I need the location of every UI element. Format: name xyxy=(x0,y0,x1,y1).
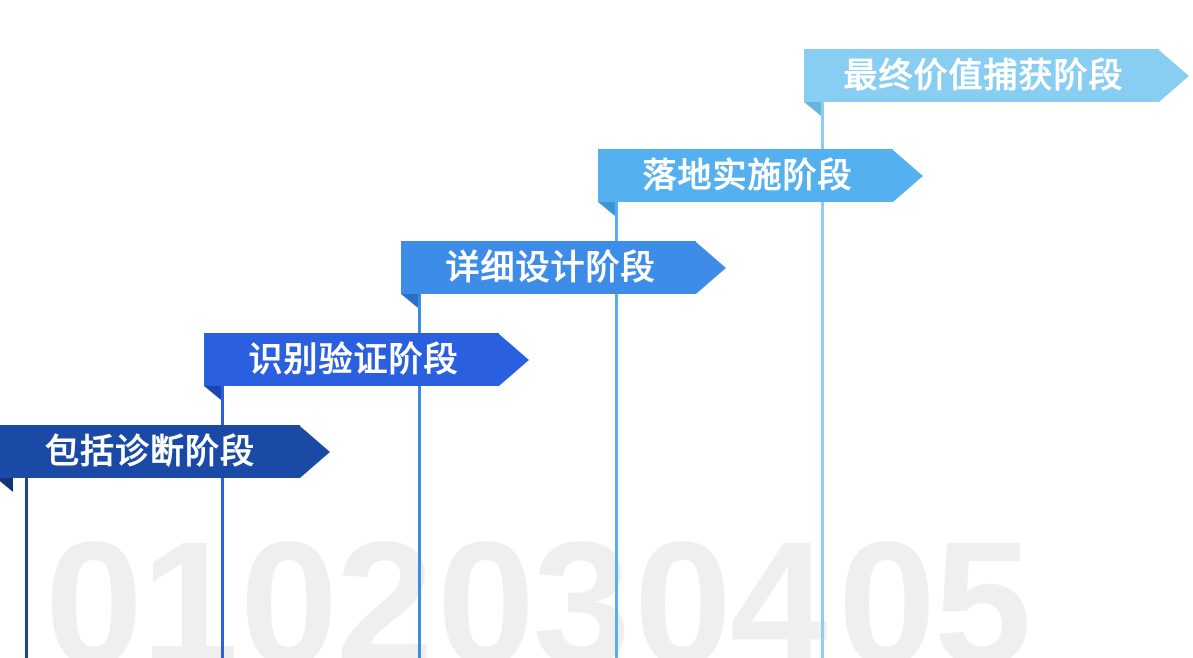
step-banner-body-03: 详细设计阶段 xyxy=(401,241,696,294)
step-banner-label-02: 识别验证阶段 xyxy=(249,343,459,377)
step-banner-body-01: 包括诊断阶段 xyxy=(0,425,300,478)
step-banner-label-05: 最终价值捕获阶段 xyxy=(844,59,1124,93)
step-banner-label-04: 落地实施阶段 xyxy=(643,159,853,193)
step-banner-04[interactable]: 落地实施阶段 xyxy=(598,149,923,202)
step-banner-body-04: 落地实施阶段 xyxy=(598,149,893,202)
step-banner-body-05: 最终价值捕获阶段 xyxy=(804,49,1159,102)
step-banner-02[interactable]: 识别验证阶段 xyxy=(204,333,529,386)
step-banner-label-01: 包括诊断阶段 xyxy=(45,435,255,469)
step-banner-05[interactable]: 最终价值捕获阶段 xyxy=(804,49,1189,102)
step-number-04: 04 xyxy=(634,516,826,658)
step-banner-fold-05 xyxy=(804,102,821,116)
step-banner-fold-03 xyxy=(401,294,418,308)
step-number-05: 05 xyxy=(838,516,1030,658)
step-banner-fold-04 xyxy=(598,202,615,216)
step-banner-body-02: 识别验证阶段 xyxy=(204,333,499,386)
connector-line-01 xyxy=(25,478,28,658)
step-banner-fold-02 xyxy=(204,386,221,400)
step-number-01: 01 xyxy=(45,516,237,658)
step-banner-arrow-03 xyxy=(696,242,726,294)
step-banner-arrow-02 xyxy=(499,334,529,386)
step-banner-01[interactable]: 包括诊断阶段 xyxy=(0,425,330,478)
step-banner-03[interactable]: 详细设计阶段 xyxy=(401,241,726,294)
step-banner-fold-01 xyxy=(0,478,13,492)
step-banner-arrow-04 xyxy=(893,150,923,202)
step-number-03: 03 xyxy=(437,516,629,658)
diagram-canvas: 0102030405 包括诊断阶段识别验证阶段详细设计阶段落地实施阶段最终价值捕… xyxy=(0,0,1193,658)
step-banner-arrow-01 xyxy=(300,426,330,478)
step-number-02: 02 xyxy=(240,516,432,658)
step-banner-label-03: 详细设计阶段 xyxy=(446,251,656,285)
step-banner-arrow-05 xyxy=(1159,50,1189,102)
